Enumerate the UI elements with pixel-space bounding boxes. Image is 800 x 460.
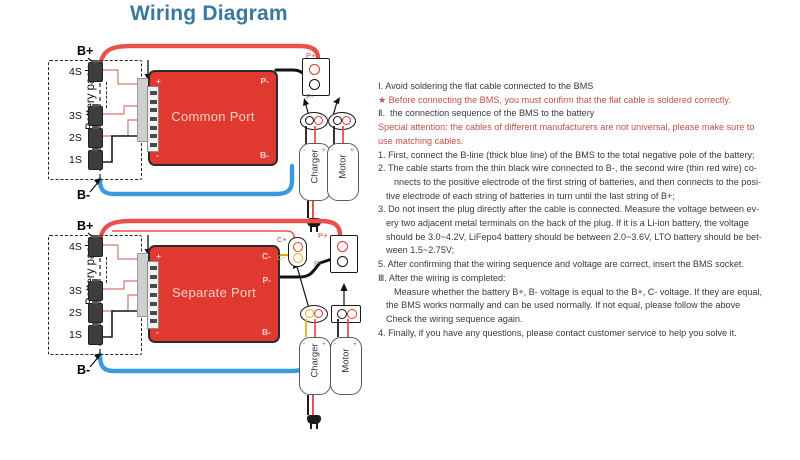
motor-neg-pin-separate: -	[334, 341, 336, 348]
cell-label-1s-common: 1S	[69, 154, 82, 166]
board-pin-pminus-separate: P-	[263, 275, 272, 285]
battery-cell-4s-common	[88, 62, 103, 82]
cell-label-4s-common: 4S	[69, 66, 82, 78]
battery-bminus-label-separate: B-	[77, 363, 90, 377]
motor-pos-pin-common: +	[350, 147, 354, 154]
motor-device-separate: Motor - +	[330, 337, 362, 395]
battery-cell-3s-separate	[88, 281, 103, 301]
motor-neg-pin-common: -	[331, 147, 333, 154]
battery-cell-2s-common	[88, 128, 103, 148]
battery-cell-1s-common	[88, 150, 103, 170]
battery-cell-2s-separate	[88, 303, 103, 323]
instruction-line: 4. Finally, if you have any questions, p…	[378, 327, 798, 340]
bms-board-common: Common Port + - P- B-	[148, 70, 278, 166]
charger-neg-pin-separate: -	[303, 341, 305, 348]
instruction-line: Ⅰ. Avoid soldering the flat cable connec…	[378, 80, 798, 93]
instruction-line: should be 3.0~4.2V, LiFepo4 battery shou…	[378, 231, 798, 244]
terminal-pplus-label-common: P+	[306, 51, 315, 60]
charger-ac-plug-separate	[307, 415, 321, 424]
instructions-panel: Ⅰ. Avoid soldering the flat cable connec…	[378, 80, 798, 340]
motor-label-separate: Motor	[341, 332, 352, 390]
instruction-line: Check the wiring sequence again.	[378, 313, 798, 326]
terminal-pplus-label-separate: P+	[318, 231, 327, 240]
cell-label-3s-common: 3S	[69, 110, 82, 122]
instruction-line: ★ Before connecting the BMS, you must co…	[378, 94, 798, 107]
charger-label-common: Charger	[310, 138, 321, 196]
cell-label-4s-separate: 4S	[69, 241, 82, 253]
output-terminal-separate	[330, 235, 358, 273]
board-pin-bminus-common: B-	[260, 150, 269, 160]
charger-label-separate: Charger	[310, 332, 321, 390]
page-title: Wiring Diagram	[130, 2, 288, 26]
battery-cell-4s-separate	[88, 237, 103, 257]
charger-pos-pin-separate: +	[322, 341, 326, 348]
instruction-line: 1. First, connect the B-line (thick blue…	[378, 149, 798, 162]
instruction-line: tive electrode of each string of batteri…	[378, 190, 798, 203]
board-pin-bminus-separate: B-	[262, 327, 271, 337]
cell-label-2s-separate: 2S	[69, 307, 82, 319]
bms-board-name-separate: Separate Port	[150, 285, 278, 300]
charge-terminal-separate	[288, 237, 307, 267]
board-pin-pminus-common: P-	[261, 76, 270, 86]
balance-socket-common	[147, 86, 159, 152]
board-pin-plus-separate: +	[156, 251, 161, 261]
instruction-line: 3. Do not insert the plug directly after…	[378, 203, 798, 216]
board-pin-cminus-separate: C-	[262, 251, 271, 261]
instruction-line: Ⅱ. the connection sequence of the BMS to…	[378, 107, 798, 120]
cell-label-1s-separate: 1S	[69, 329, 82, 341]
bms-board-name-common: Common Port	[150, 109, 276, 124]
instruction-line: the BMS works normally and can be used n…	[378, 299, 798, 312]
instruction-line: Special attention: the cables of differe…	[378, 121, 798, 134]
instruction-line: use matching cables.	[378, 135, 798, 148]
battery-bplus-label-common: B+	[77, 44, 93, 58]
output-terminal-common	[302, 58, 330, 96]
instruction-line: 2. The cable starts from the thin black …	[378, 162, 798, 175]
motor-device-common: Motor - +	[327, 143, 359, 201]
cell-label-3s-separate: 3S	[69, 285, 82, 297]
battery-cell-3s-common	[88, 106, 103, 126]
motor-label-common: Motor	[338, 138, 349, 196]
battery-cell-1s-separate	[88, 325, 103, 345]
board-pin-plus-common: +	[156, 76, 161, 86]
instruction-line: ery two adjacent metal terminals on the …	[378, 217, 798, 230]
instruction-line: 5. After confirming that the wiring sequ…	[378, 258, 798, 271]
instruction-line: ween 1.5~2.75V;	[378, 244, 798, 257]
cell-label-2s-common: 2S	[69, 132, 82, 144]
battery-bminus-label-common: B-	[77, 188, 90, 202]
terminal-cminus-label-separate: C-	[277, 253, 285, 262]
charger-neg-pin-common: -	[303, 147, 305, 154]
balance-socket-separate	[147, 261, 159, 329]
motor-pos-pin-separate: +	[353, 341, 357, 348]
terminal-cplus-label-separate: C+	[277, 235, 287, 244]
instruction-line: Measure whether the battery B+, B- volta…	[378, 286, 798, 299]
instruction-line: nnects to the positive electrode of the …	[378, 176, 798, 189]
bms-board-separate: Separate Port + - C- P- B-	[148, 245, 280, 343]
terminal-pminus-label-separate: P-	[314, 259, 322, 268]
instruction-line: Ⅲ. After the wiring is completed:	[378, 272, 798, 285]
battery-bplus-label-separate: B+	[77, 219, 93, 233]
terminal-pminus-label-common: P-	[306, 92, 314, 101]
